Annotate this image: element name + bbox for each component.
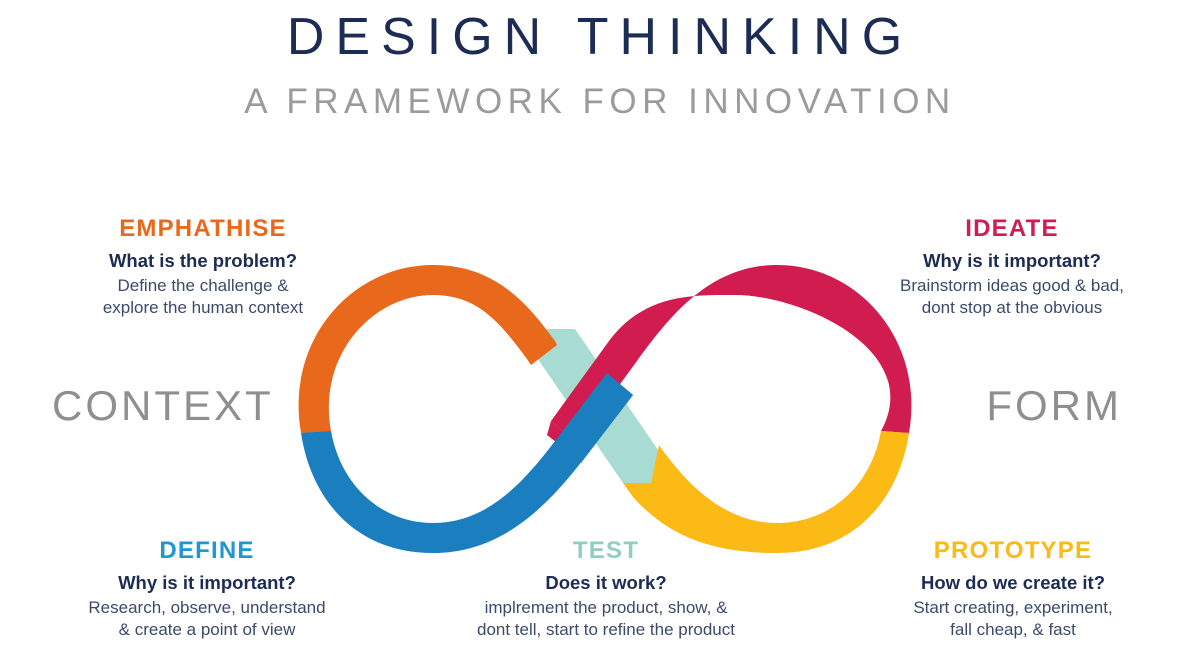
phase-question-emphathise: What is the problem? (48, 249, 358, 272)
phase-question-test: Does it work? (436, 571, 776, 594)
phase-title-emphathise: EMPHATHISE (48, 216, 358, 242)
phase-question-ideate: Why is it important? (862, 249, 1162, 272)
phase-title-test: TEST (436, 538, 776, 564)
phase-desc-ideate-line1: Brainstorm ideas good & bad, (862, 275, 1162, 297)
phase-desc-emphathise-line2: explore the human context (48, 297, 358, 319)
phase-title-prototype: PROTOTYPE (858, 538, 1168, 564)
phase-question-prototype: How do we create it? (858, 571, 1168, 594)
phase-desc-ideate-line2: dont stop at the obvious (862, 297, 1162, 319)
page-subtitle: A FRAMEWORK FOR INNOVATION (0, 68, 1200, 122)
phase-block-emphathise: EMPHATHISE What is the problem? Define t… (48, 216, 358, 319)
phase-title-define: DEFINE (42, 538, 372, 564)
axis-label-context: CONTEXT (52, 382, 274, 430)
phase-question-define: Why is it important? (42, 571, 372, 594)
phase-title-ideate: IDEATE (862, 216, 1162, 242)
page-title: DESIGN THINKING (0, 0, 1200, 68)
infographic-canvas: DESIGN THINKING A FRAMEWORK FOR INNOVATI… (0, 0, 1200, 647)
phase-block-prototype: PROTOTYPE How do we create it? Start cre… (858, 538, 1168, 641)
phase-desc-prototype-line2: fall cheap, & fast (858, 619, 1168, 641)
phase-desc-prototype-line1: Start creating, experiment, (858, 597, 1168, 619)
phase-block-test: TEST Does it work? implrement the produc… (436, 538, 776, 641)
infinity-loop-svg (255, 245, 955, 555)
phase-desc-test-line2: dont tell, start to refine the product (436, 619, 776, 641)
phase-desc-define-line2: & create a point of view (42, 619, 372, 641)
header: DESIGN THINKING A FRAMEWORK FOR INNOVATI… (0, 0, 1200, 122)
phase-desc-emphathise-line1: Define the challenge & (48, 275, 358, 297)
phase-desc-test-line1: implrement the product, show, & (436, 597, 776, 619)
loop-segment-prototype (623, 431, 909, 553)
infinity-loop-diagram (255, 245, 955, 555)
phase-block-define: DEFINE Why is it important? Research, ob… (42, 538, 372, 641)
phase-block-ideate: IDEATE Why is it important? Brainstorm i… (862, 216, 1162, 319)
phase-desc-define-line1: Research, observe, understand (42, 597, 372, 619)
axis-label-form: FORM (986, 382, 1122, 430)
prototype-band-path (623, 431, 909, 553)
